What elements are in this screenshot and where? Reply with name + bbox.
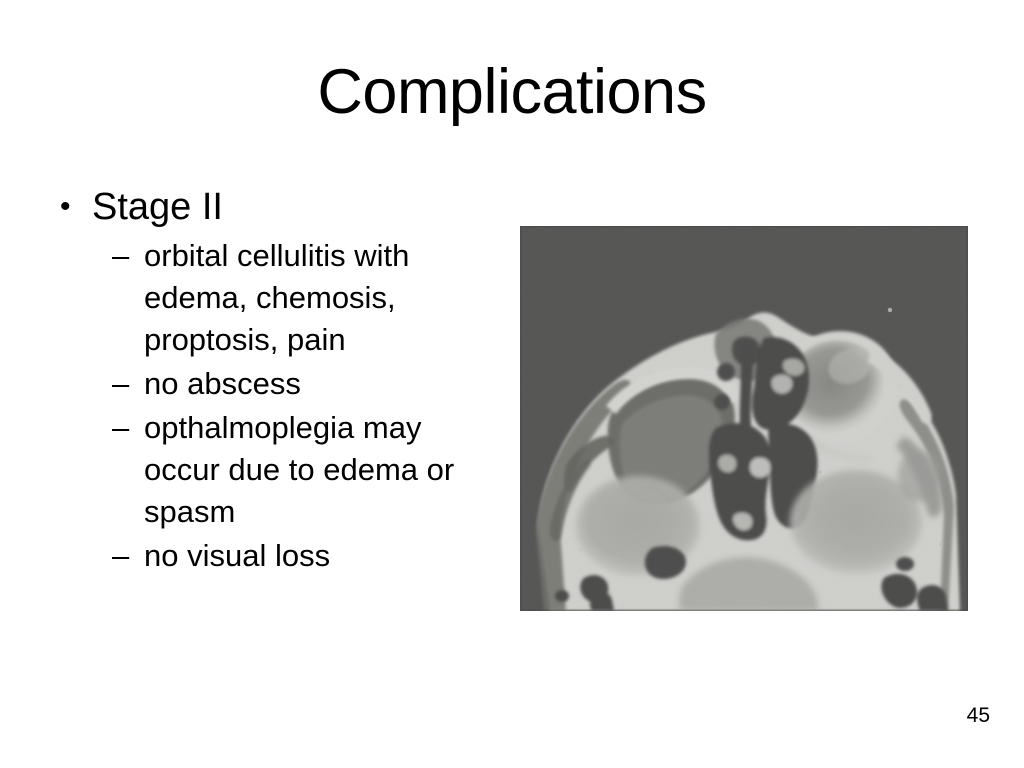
- list-item-level2-label: opthalmoplegia may occur due to edema or…: [144, 407, 494, 533]
- ct-scan-graphic: [520, 226, 968, 611]
- sub-bullet-list: – orbital cellulitis with edema, chemosi…: [56, 235, 506, 579]
- dash-marker-icon: –: [56, 407, 144, 449]
- list-item-level2-label: no visual loss: [144, 535, 494, 577]
- axial-ct-scan-orbits: [520, 226, 968, 611]
- page-title: Complications: [0, 56, 1024, 128]
- dash-marker-icon: –: [56, 363, 144, 405]
- bullet-list: • Stage II – orbital cellulitis with ede…: [56, 183, 506, 579]
- list-item-level2-label: orbital cellulitis with edema, chemosis,…: [144, 235, 494, 361]
- list-item-level2: – no visual loss: [56, 535, 506, 579]
- dash-marker-icon: –: [56, 535, 144, 577]
- bullet-dot-icon: •: [56, 183, 92, 231]
- page-number: 45: [967, 704, 990, 728]
- list-item-level1-label: Stage II: [92, 183, 506, 231]
- dash-marker-icon: –: [56, 235, 144, 277]
- list-item-level2: – no abscess: [56, 363, 506, 407]
- list-item-level1: • Stage II: [56, 183, 506, 231]
- list-item-level2-label: no abscess: [144, 363, 494, 405]
- list-item-level2: – opthalmoplegia may occur due to edema …: [56, 407, 506, 535]
- list-item-level2: – orbital cellulitis with edema, chemosi…: [56, 235, 506, 363]
